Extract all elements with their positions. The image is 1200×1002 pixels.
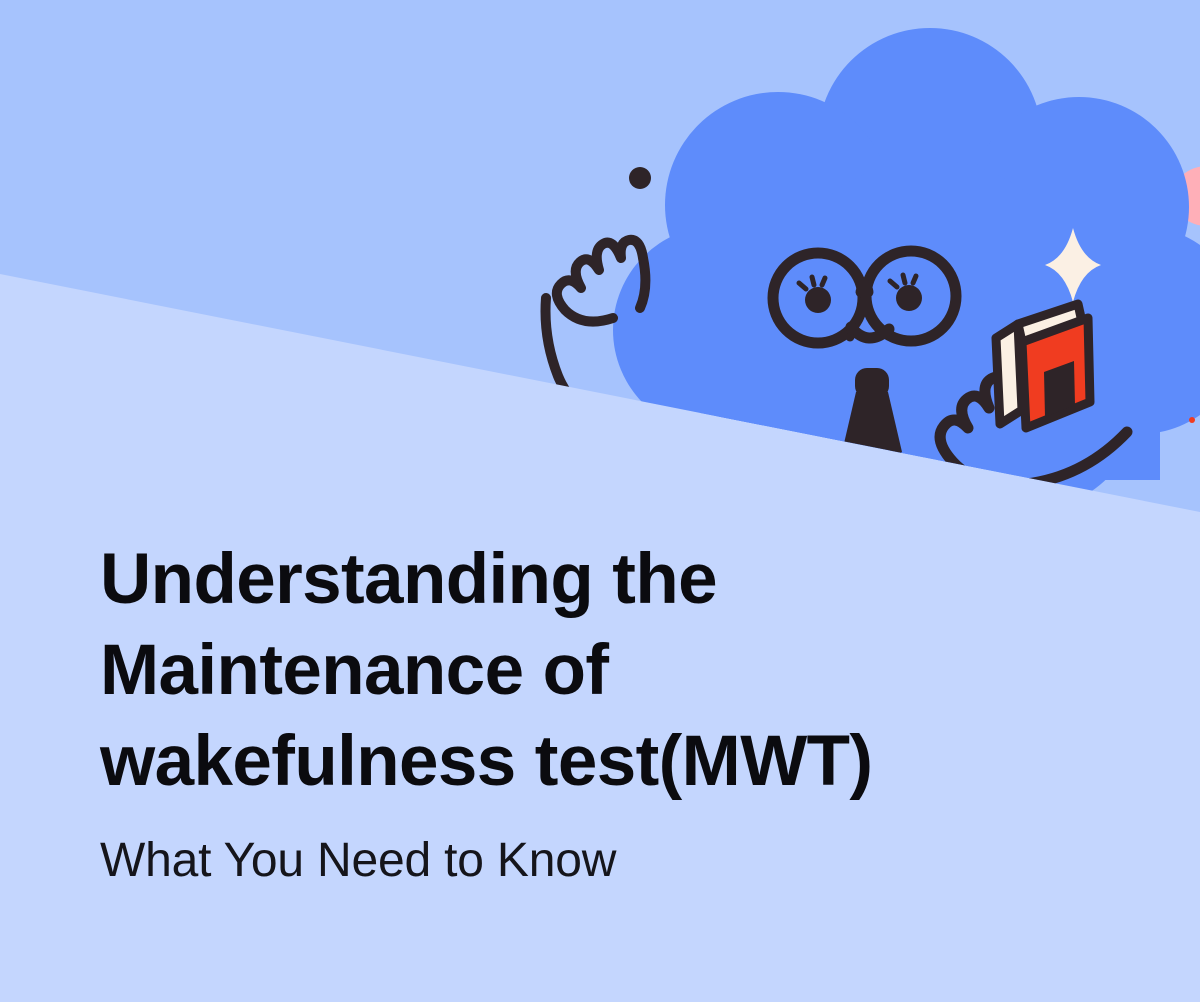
- text-block: Understanding the Maintenance of wakeful…: [100, 534, 1060, 891]
- cloud-body: [613, 28, 1200, 510]
- hero-illustration: [0, 0, 1200, 560]
- small-red-dot-icon: [1189, 417, 1195, 423]
- dark-dot-icon: [629, 167, 651, 189]
- page-subtitle: What You Need to Know: [100, 831, 1060, 891]
- page-title: Understanding the Maintenance of wakeful…: [100, 534, 1060, 807]
- poster-canvas: Understanding the Maintenance of wakeful…: [0, 0, 1200, 1002]
